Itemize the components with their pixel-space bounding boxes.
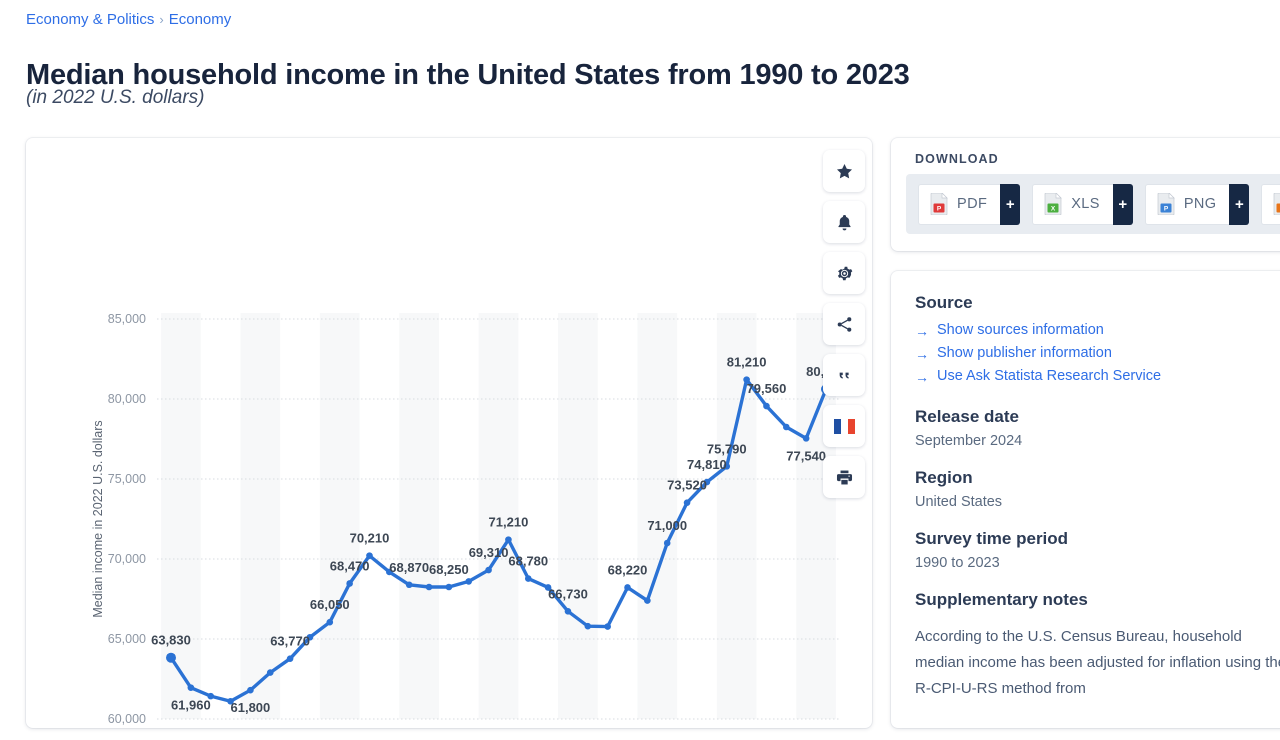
plot-band <box>320 313 360 719</box>
breadcrumb-child[interactable]: Economy <box>169 11 232 28</box>
xls-file-icon: X <box>1044 193 1063 215</box>
download-ppt-button[interactable]: PPPT <box>1261 184 1280 225</box>
breadcrumb: Economy & Politics›Economy <box>26 11 231 28</box>
region-value: United States <box>915 494 1280 510</box>
survey-period-heading: Survey time period <box>915 529 1280 549</box>
data-point-label: 61,800 <box>231 700 271 715</box>
data-point[interactable] <box>783 424 790 431</box>
source-link-1[interactable]: →Show publisher information <box>915 342 1280 365</box>
french-flag-icon <box>834 419 855 434</box>
data-point-label: 63,830 <box>151 633 191 648</box>
data-point-label: 69,310 <box>469 545 509 560</box>
data-point-label: 70,210 <box>350 531 390 546</box>
data-point-label: 68,250 <box>429 562 469 577</box>
svg-text:X: X <box>1051 206 1056 213</box>
language-button[interactable] <box>823 405 865 447</box>
data-point-label: 71,210 <box>489 515 529 530</box>
data-point-label: 81,210 <box>727 355 767 370</box>
data-point[interactable] <box>267 669 274 676</box>
share-button[interactable] <box>823 303 865 345</box>
download-png-options-button[interactable]: + <box>1229 184 1249 225</box>
data-point[interactable] <box>485 567 492 574</box>
download-heading: DOWNLOAD <box>915 152 999 166</box>
download-png-label: PNG <box>1184 196 1217 212</box>
plot-band <box>717 313 757 719</box>
data-point-label: 71,000 <box>647 518 687 533</box>
statista-chart-page: Economy & Politics›Economy Median househ… <box>0 0 1280 740</box>
data-point[interactable] <box>644 597 651 604</box>
y-axis-title: Median income in 2022 U.S. dollars <box>91 420 105 617</box>
supplementary-notes-text: According to the U.S. Census Bureau, hou… <box>915 624 1280 702</box>
survey-period-value: 1990 to 2023 <box>915 555 1280 571</box>
settings-button[interactable] <box>823 252 865 294</box>
source-links-list: →Show sources information→Show publisher… <box>915 319 1280 388</box>
data-point-label: 63,770 <box>270 634 310 649</box>
plot-band <box>399 313 439 719</box>
favorite-button[interactable] <box>823 150 865 192</box>
plot-band <box>637 313 677 719</box>
data-point-label: 68,870 <box>389 560 429 575</box>
data-point[interactable] <box>446 584 453 591</box>
source-link-label: Use Ask Statista Research Service <box>937 365 1161 388</box>
bell-icon <box>835 213 854 232</box>
chart-plot[interactable]: 60,00065,00070,00075,00080,00085,000Medi… <box>26 138 846 728</box>
breadcrumb-parent[interactable]: Economy & Politics <box>26 11 154 28</box>
gear-icon <box>835 264 854 283</box>
y-axis-tick-label: 65,000 <box>108 632 146 646</box>
y-axis-tick-label: 70,000 <box>108 552 146 566</box>
data-point[interactable] <box>465 578 472 585</box>
download-item-png: PPNG+ <box>1145 184 1250 225</box>
arrow-right-icon: → <box>915 370 929 384</box>
data-point[interactable] <box>287 655 294 662</box>
svg-text:P: P <box>1164 206 1169 213</box>
data-point-label: 68,780 <box>508 554 548 569</box>
data-point[interactable] <box>346 580 353 587</box>
metadata-card: Source →Show sources information→Show pu… <box>891 271 1280 728</box>
data-point[interactable] <box>585 623 592 630</box>
chart-card: 60,00065,00070,00075,00080,00085,000Medi… <box>26 138 872 728</box>
data-point-label: 66,050 <box>310 597 350 612</box>
arrow-right-icon: → <box>915 347 929 361</box>
data-point-label: 74,810 <box>687 457 727 472</box>
source-link-2[interactable]: →Use Ask Statista Research Service <box>915 365 1280 388</box>
data-point[interactable] <box>247 687 254 694</box>
data-point[interactable] <box>624 584 631 591</box>
quote-icon <box>835 366 854 385</box>
download-pdf-button[interactable]: PPDF <box>918 184 1000 225</box>
download-item-pdf: PPDF+ <box>918 184 1020 225</box>
data-point-label: 79,560 <box>747 381 787 396</box>
y-axis-tick-label: 75,000 <box>108 472 146 486</box>
plot-band <box>240 313 280 719</box>
data-point[interactable] <box>803 435 810 442</box>
download-item-ppt: PPPT+ <box>1261 184 1280 225</box>
supplementary-notes-heading: Supplementary notes <box>915 590 1280 610</box>
plot-band <box>558 313 598 719</box>
download-png-button[interactable]: PPNG <box>1145 184 1230 225</box>
data-point-label: 75,790 <box>707 441 747 456</box>
data-point-label: 77,540 <box>786 448 826 463</box>
y-axis-tick-label: 85,000 <box>108 312 146 326</box>
download-xls-label: XLS <box>1071 196 1100 212</box>
download-item-xls: XXLS+ <box>1032 184 1133 225</box>
download-pdf-options-button[interactable]: + <box>1000 184 1020 225</box>
print-button[interactable] <box>823 456 865 498</box>
share-icon <box>835 315 854 334</box>
source-link-label: Show publisher information <box>937 342 1112 365</box>
page-subtitle: (in 2022 U.S. dollars) <box>26 87 204 109</box>
data-point[interactable] <box>426 584 433 591</box>
download-xls-options-button[interactable]: + <box>1113 184 1133 225</box>
ppt-file-icon: P <box>1273 193 1280 215</box>
data-point-label: 61,960 <box>171 698 211 713</box>
source-link-label: Show sources information <box>937 319 1104 342</box>
chart-toolbar <box>823 150 865 498</box>
svg-text:P: P <box>937 206 942 213</box>
breadcrumb-separator: › <box>159 12 163 27</box>
printer-icon <box>835 468 854 487</box>
data-point[interactable] <box>326 619 333 626</box>
data-point-label: 68,220 <box>608 562 648 577</box>
pdf-file-icon: P <box>930 193 949 215</box>
data-point-label: 73,520 <box>667 478 707 493</box>
notify-button[interactable] <box>823 201 865 243</box>
source-link-0[interactable]: →Show sources information <box>915 319 1280 342</box>
download-xls-button[interactable]: XXLS <box>1032 184 1113 225</box>
download-card: DOWNLOAD PPDF+XXLS+PPNG+PPPT+ <box>891 138 1280 251</box>
data-point[interactable] <box>604 623 611 630</box>
data-point[interactable] <box>505 536 512 543</box>
data-point[interactable] <box>525 575 532 582</box>
y-axis-tick-label: 80,000 <box>108 392 146 406</box>
download-button-group: PPDF+XXLS+PPNG+PPPT+ <box>906 174 1280 234</box>
arrow-right-icon: → <box>915 324 929 338</box>
region-heading: Region <box>915 468 1280 488</box>
data-point[interactable] <box>406 581 413 588</box>
source-heading: Source <box>915 293 1280 313</box>
data-point-label: 66,730 <box>548 586 588 601</box>
data-point[interactable] <box>664 540 671 547</box>
line-chart-svg: 60,00065,00070,00075,00080,00085,000Medi… <box>26 138 846 728</box>
data-point[interactable] <box>188 684 195 691</box>
data-point-label: 68,470 <box>330 558 370 573</box>
release-date-heading: Release date <box>915 407 1280 427</box>
star-icon <box>835 162 854 181</box>
data-point[interactable] <box>763 403 770 410</box>
download-pdf-label: PDF <box>957 196 987 212</box>
data-point[interactable] <box>565 608 572 615</box>
data-point[interactable] <box>684 499 691 506</box>
release-date-value: September 2024 <box>915 433 1280 449</box>
data-point[interactable] <box>166 653 176 663</box>
y-axis-tick-label: 60,000 <box>108 712 146 726</box>
png-file-icon: P <box>1157 193 1176 215</box>
cite-button[interactable] <box>823 354 865 396</box>
